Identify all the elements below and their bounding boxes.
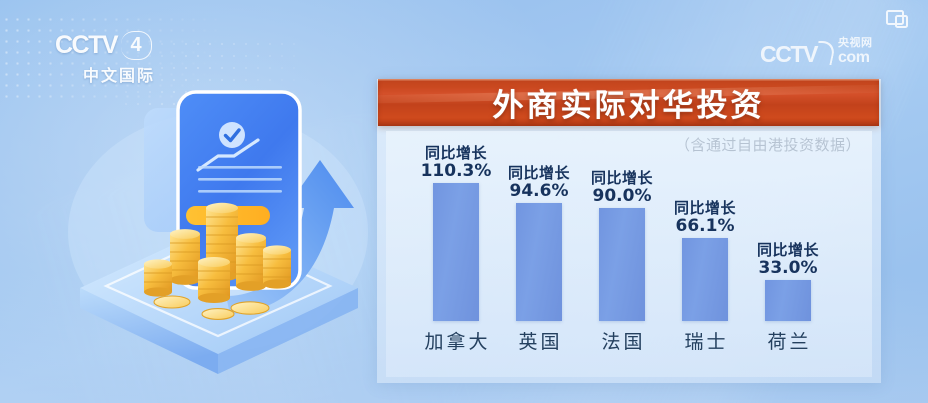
bar-荷兰 [765, 280, 811, 321]
bar-value-label: 94.6% [508, 182, 570, 200]
bar-caption: 同比增长66.1% [674, 200, 736, 235]
bar-group-英国: 同比增长94.6%英国 [516, 203, 562, 321]
bar-caption: 同比增长94.6% [508, 165, 570, 200]
bar-value-label: 110.3% [421, 162, 492, 180]
bar-value-label: 90.0% [591, 187, 653, 205]
broadcast-screen: CCTV 4 中文国际 CCTV 央视网 com [0, 0, 928, 403]
growth-label: 同比增长 [674, 200, 736, 216]
channel-number-badge: 4 [121, 31, 152, 60]
bar-group-荷兰: 同比增长33.0%荷兰 [765, 280, 811, 321]
bar-加拿大 [433, 183, 479, 321]
category-label: 加拿大 [421, 327, 490, 354]
swoosh-icon [813, 41, 836, 65]
watermark-cn-text: 央视网 [838, 38, 873, 49]
watermark-domain-text: com [838, 50, 873, 66]
bar-英国 [516, 203, 562, 321]
category-label: 英国 [515, 327, 562, 354]
title-banner: 外商实际对华投资 [378, 79, 879, 126]
growth-label: 同比增长 [591, 170, 653, 186]
growth-label: 同比增长 [508, 165, 570, 181]
bar-caption: 同比增长110.3% [421, 145, 492, 180]
cctv4-channel-logo: CCTV 4 中文国际 [55, 30, 183, 85]
bar-value-label: 66.1% [674, 217, 736, 235]
bar-chart: 同比增长110.3%加拿大同比增长94.6%英国同比增长90.0%法国同比增长6… [386, 131, 872, 377]
bar-瑞士 [682, 238, 728, 321]
category-label: 瑞士 [681, 327, 728, 354]
picture-in-picture-icon[interactable] [886, 10, 908, 28]
bar-caption: 同比增长90.0% [591, 170, 653, 205]
coins-phone-growth-illustration [58, 82, 378, 347]
category-label: 荷兰 [764, 327, 811, 354]
checkmark-icon [219, 122, 245, 148]
bar-法国 [599, 208, 645, 321]
bar-value-label: 33.0% [757, 259, 819, 277]
page-title: 外商实际对华投资 [493, 80, 765, 125]
bar-group-瑞士: 同比增长66.1%瑞士 [682, 238, 728, 321]
chart-plot-area: 同比增长110.3%加拿大同比增长94.6%英国同比增长90.0%法国同比增长6… [386, 131, 872, 377]
watermark-cctv-text: CCTV [760, 43, 817, 66]
cctv-com-watermark: CCTV 央视网 com [760, 38, 873, 66]
growth-label: 同比增长 [757, 242, 819, 258]
bar-group-加拿大: 同比增长110.3%加拿大 [433, 183, 479, 321]
cctv-wordmark: CCTV [55, 33, 117, 58]
category-label: 法国 [598, 327, 645, 354]
bar-group-法国: 同比增长90.0%法国 [599, 208, 645, 321]
bar-caption: 同比增长33.0% [757, 242, 819, 277]
chart-panel: 外商实际对华投资 （含通过自由港投资数据） 同比增长110.3%加拿大同比增长9… [377, 79, 881, 383]
growth-label: 同比增长 [421, 145, 492, 161]
channel-number: 4 [131, 35, 142, 55]
